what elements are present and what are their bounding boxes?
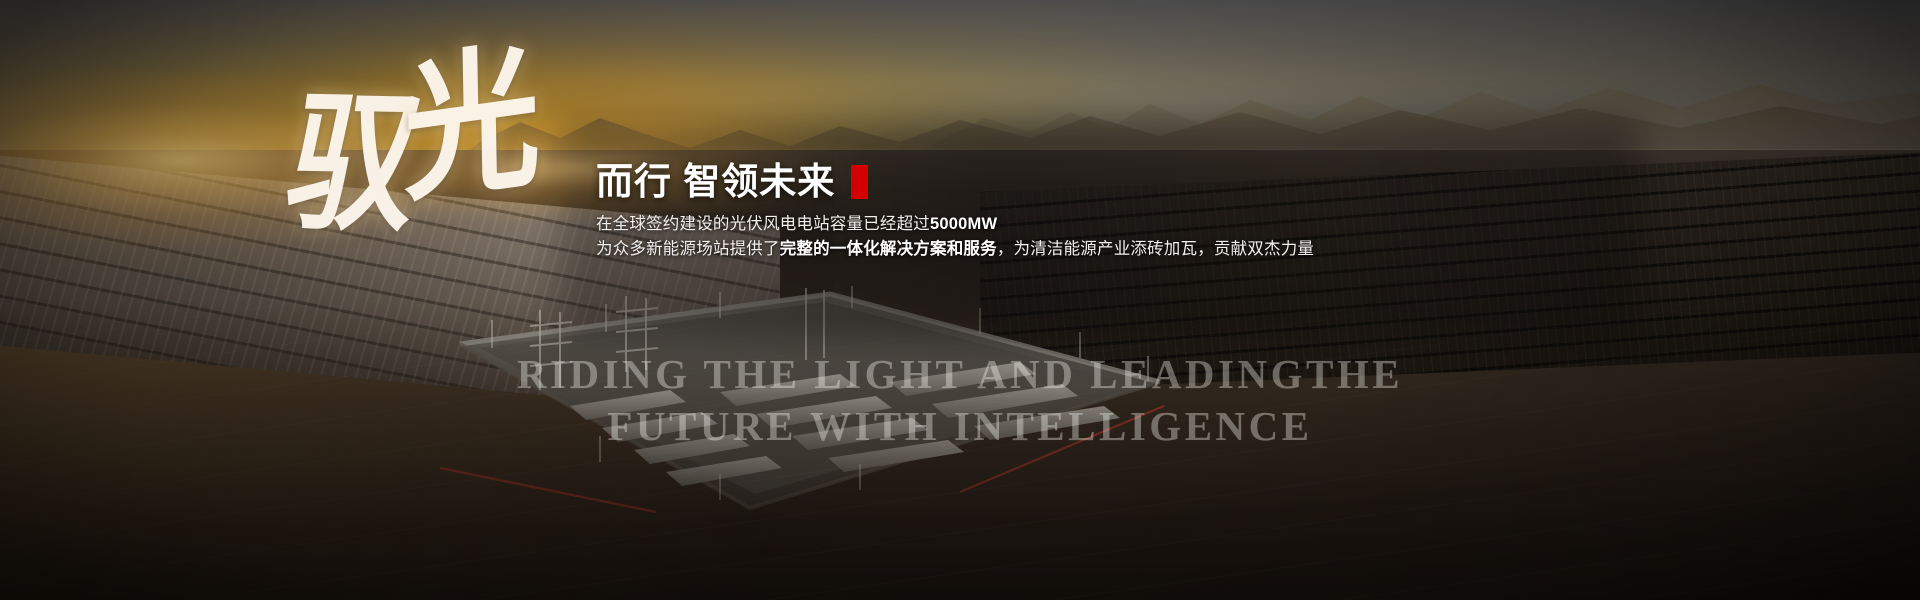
headline: 而行 智领未来 (596, 162, 1596, 203)
subtitle-line-2: 为众多新能源场站提供了完整的一体化解决方案和服务，为清洁能源产业添砖加瓦，贡献双… (596, 237, 1596, 262)
subtitle-block: 在全球签约建设的光伏风电电站容量已经超过5000MW 为众多新能源场站提供了完整… (596, 212, 1596, 262)
vignette (0, 0, 1920, 600)
copy-block: 而行 智领未来 在全球签约建设的光伏风电电站容量已经超过5000MW 为众多新能… (596, 162, 1596, 262)
subtitle-line-1: 在全球签约建设的光伏风电电站容量已经超过5000MW (596, 212, 1596, 237)
subtitle-line-2-prefix: 为众多新能源场站提供了 (596, 240, 780, 258)
headline-text: 而行 智领未来 (596, 162, 835, 203)
subtitle-line-1-prefix: 在全球签约建设的光伏风电电站容量已经超过 (596, 215, 930, 233)
red-accent-block (851, 165, 868, 199)
subtitle-line-2-suffix: ，为清洁能源产业添砖加瓦，贡献双杰力量 (997, 240, 1314, 258)
hero-banner: 驭光 而行 智领未来 在全球签约建设的光伏风电电站容量已经超过5000MW 为众… (0, 0, 1920, 600)
subtitle-line-2-bold: 完整的一体化解决方案和服务 (780, 240, 997, 258)
subtitle-line-1-bold: 5000MW (930, 215, 997, 233)
background-photo (0, 0, 1920, 600)
